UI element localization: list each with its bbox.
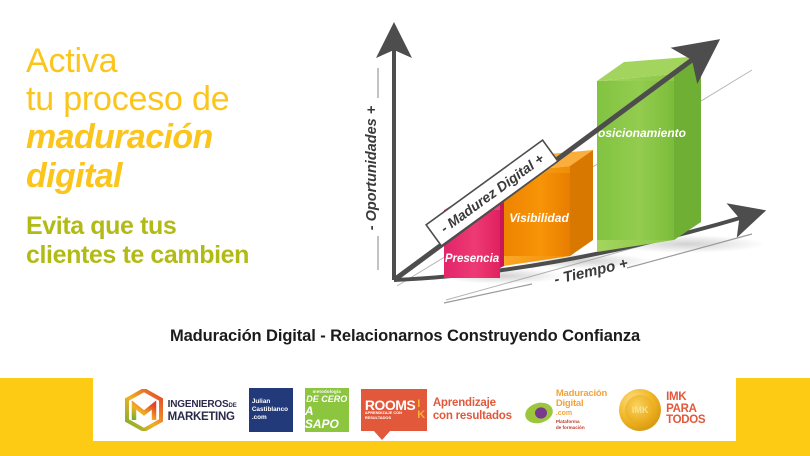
headline-line-2: tu proceso de	[26, 80, 336, 118]
julian-castiblanco-tile: Julian Castiblanco .com	[249, 388, 293, 432]
bar-label-presencia: Presencia	[445, 253, 500, 265]
julian-line-2: Castiblanco	[246, 406, 296, 414]
subheadline-block: Evita que tus clientes te cambien	[26, 212, 336, 270]
maduracion-line-2: Digital	[556, 399, 607, 409]
imk-wordmark: INGENIEROSDE MARKETING	[168, 397, 237, 423]
rooms-speech-bubble: ROOMS APRENDIZAJE CON RESULTADOS I K	[361, 389, 427, 431]
logo-rooms-imk: ROOMS APRENDIZAJE CON RESULTADOS I K Apr…	[361, 387, 512, 433]
julian-line-1: Julian	[246, 398, 296, 406]
partner-logo-row: INGENIEROSDE MARKETING Julian Castiblanc…	[93, 378, 736, 441]
imk-line-2: MARKETING	[168, 412, 237, 423]
subheadline-line-1: Evita que tus	[26, 212, 336, 241]
rooms-tagline-2: RESULTADOS	[365, 415, 415, 420]
avocado-icon	[524, 396, 558, 424]
sapo-line-1: DE CERO	[306, 394, 347, 405]
logo-de-cero-a-sapo: metodología DE CERO A SAPO	[305, 387, 349, 433]
rooms-slogan-2: con resultados	[433, 410, 512, 423]
rooms-slogan-1: Aprendizaje	[433, 397, 512, 410]
logo-maduracion-digital: Maduración Digital .com Plataforma de fo…	[524, 387, 607, 433]
imk-hexagon-icon	[124, 389, 164, 431]
logo-julian-castiblanco: Julian Castiblanco .com	[249, 387, 293, 433]
maturity-bar-chart: Presencia Visibilidad Posicionamiento	[352, 18, 792, 310]
headline-emphasis-2: digital	[26, 157, 336, 196]
bar-label-visibilidad: Visibilidad	[509, 211, 569, 225]
imk-coin-inner: IMK	[625, 395, 655, 425]
headline-emphasis-1: maduración	[26, 118, 336, 157]
julian-line-3: .com	[246, 414, 296, 422]
bar-label-posicionamiento: Posicionamiento	[590, 126, 686, 140]
svg-text:- Oportunidades +: - Oportunidades +	[364, 105, 380, 230]
rooms-ik-mark: I K	[417, 399, 425, 421]
bar-posicionamiento: Posicionamiento	[590, 56, 701, 252]
imk-para-todos-wordmark: IMK PARA TODOS	[666, 392, 705, 427]
maduracion-wordmark: Maduración Digital .com Plataforma de fo…	[556, 389, 607, 430]
imk-line-1: INGENIEROS	[168, 399, 229, 410]
rooms-slogan: Aprendizaje con resultados	[433, 397, 512, 423]
headline-block: Activa tu proceso de maduración digital …	[26, 42, 336, 270]
maduracion-line-4b: de formación	[556, 425, 607, 430]
maduracion-line-3: .com	[556, 409, 607, 419]
rooms-word: ROOMS	[365, 400, 415, 410]
de-cero-a-sapo-tile: metodología DE CERO A SAPO	[305, 388, 349, 432]
rooms-ik-k: K	[417, 410, 425, 421]
slide-canvas: Activa tu proceso de maduración digital …	[0, 0, 810, 456]
imk-coin-icon: IMK	[619, 389, 661, 431]
logo-imk-ingenieros-marketing: INGENIEROSDE MARKETING	[124, 387, 237, 433]
imk-de: DE	[228, 403, 236, 409]
logo-imk-para-todos: IMK IMK PARA TODOS	[619, 387, 705, 433]
rooms-wordmark: ROOMS APRENDIZAJE CON RESULTADOS	[365, 400, 415, 420]
imk-para-todos-line-3: TODOS	[666, 415, 705, 427]
rooms-ik-i: I	[417, 399, 425, 410]
slide-caption: Maduración Digital - Relacionarnos Const…	[0, 327, 810, 346]
sapo-line-2: A SAPO	[305, 405, 349, 431]
annotation-oportunidades: - Oportunidades +	[364, 105, 380, 230]
headline-line-1: Activa	[26, 42, 336, 80]
subheadline-line-2: clientes te cambien	[26, 241, 336, 270]
